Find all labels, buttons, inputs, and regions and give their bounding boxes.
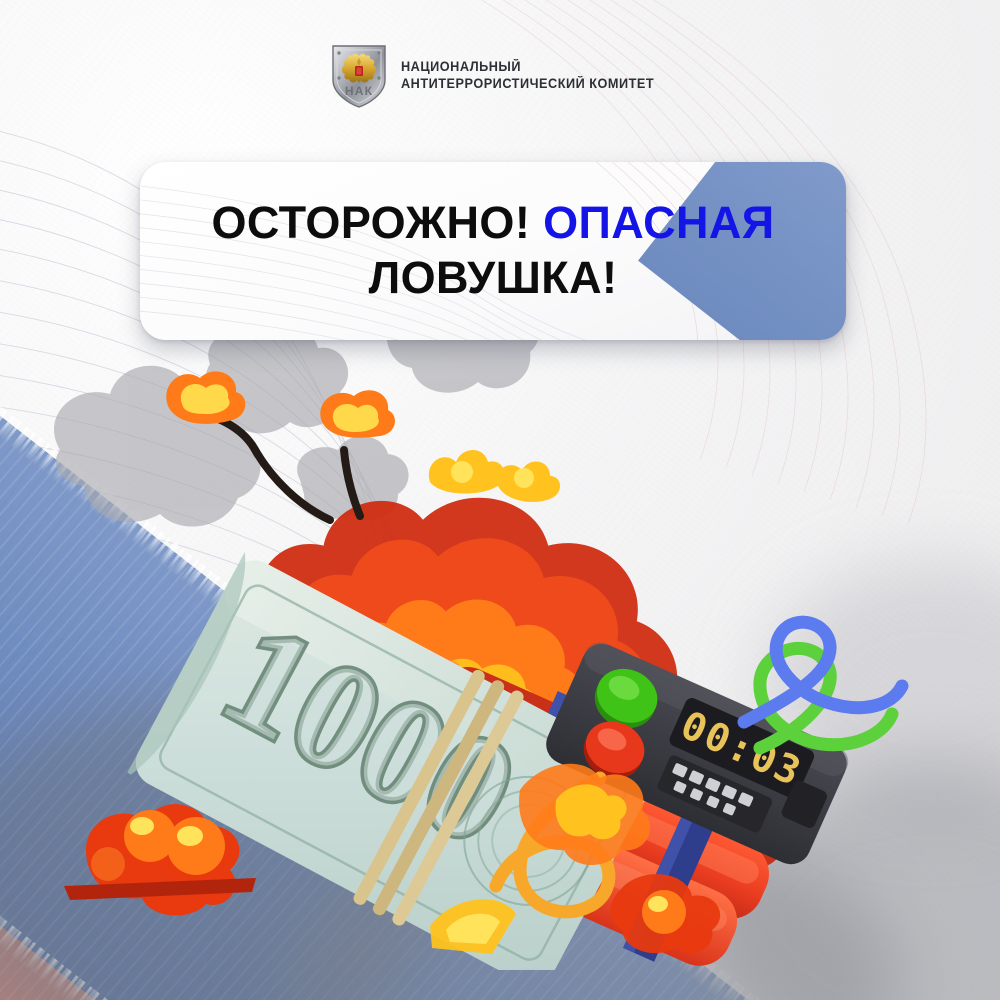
explosion-flames [429,450,560,502]
shield-label: НАК [345,84,373,98]
header-logo-block: НАК НАЦИОНАЛЬНЫЙ АНТИТЕРРОРИСТИЧЕСКИЙ КО… [0,42,1000,108]
org-name: НАЦИОНАЛЬНЫЙ АНТИТЕРРОРИСТИЧЕСКИЙ КОМИТЕ… [401,58,670,93]
warning-title-line-2: ЛОВУШКА! [369,252,618,303]
warning-banner-card: ОСТОРОЖНО! ОПАСНАЯ ЛОВУШКА! [140,162,846,340]
org-name-line-1: НАЦИОНАЛЬНЫЙ [401,58,654,75]
warning-title-highlight: ОПАСНАЯ [543,197,774,248]
nac-shield-emblem-icon: НАК [330,42,388,108]
poster-canvas: 1000 1000 00:03 [0,0,1000,1000]
org-name-line-2: АНТИТЕРРОРИСТИЧЕСКИЙ КОМИТЕТ [401,75,654,92]
bomb-illustration: 1000 1000 00:03 [0,330,1000,970]
warning-title: ОСТОРОЖНО! ОПАСНАЯ ЛОВУШКА! [185,196,800,306]
warning-title-line-1-plain: ОСТОРОЖНО! [211,197,530,248]
fuse-flame-right [320,390,395,437]
